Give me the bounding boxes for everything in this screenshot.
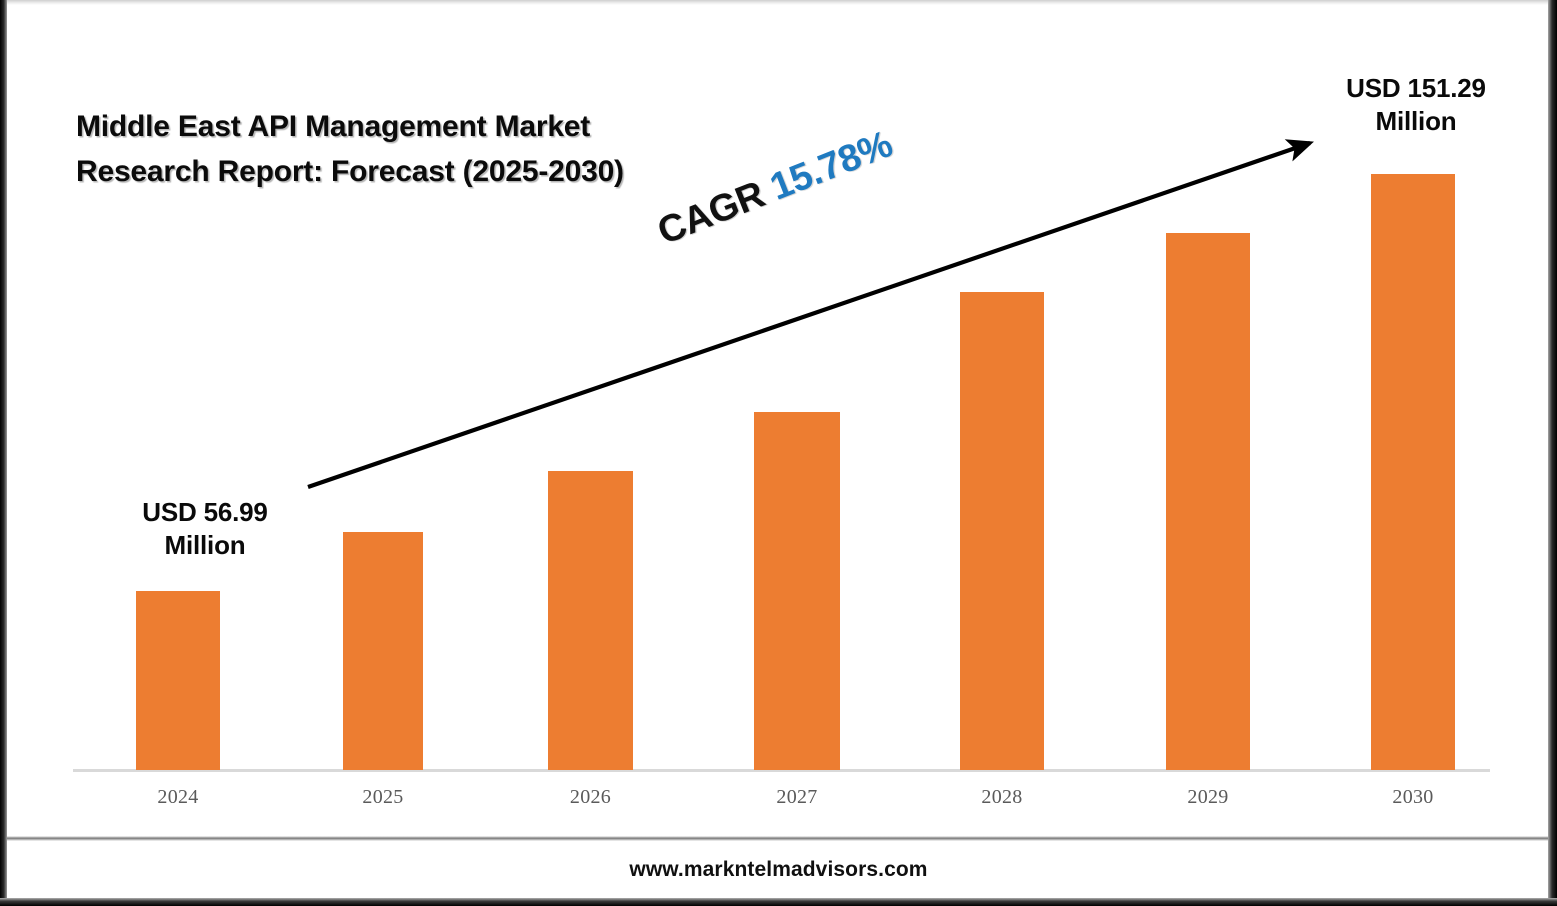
footer-divider: [7, 836, 1548, 841]
end-value-amount: USD 151.29: [1300, 72, 1532, 105]
bar-2025: [343, 532, 423, 770]
x-tick-label-2027: 2027: [717, 786, 877, 809]
start-value-unit: Million: [80, 529, 330, 562]
x-tick-label-2030: 2030: [1333, 786, 1493, 809]
bar-2024: [136, 591, 220, 770]
end-value-unit: Million: [1300, 105, 1532, 138]
x-tick-label-2026: 2026: [511, 786, 671, 809]
start-value-callout: USD 56.99 Million: [80, 496, 330, 563]
bar-2026: [548, 471, 633, 770]
x-tick-label-2029: 2029: [1128, 786, 1288, 809]
x-tick-label-2024: 2024: [98, 786, 258, 809]
footer-website-url: www.markntelmadvisors.com: [0, 858, 1557, 882]
bar-2030: [1371, 174, 1455, 770]
bar-2028: [960, 292, 1044, 770]
x-tick-label-2025: 2025: [303, 786, 463, 809]
bar-2029: [1166, 233, 1250, 770]
chart-page: Middle East API Management Market Resear…: [0, 0, 1557, 906]
x-tick-label-2028: 2028: [922, 786, 1082, 809]
end-value-callout: USD 151.29 Million: [1300, 72, 1532, 139]
start-value-amount: USD 56.99: [80, 496, 330, 529]
bar-2027: [754, 412, 840, 770]
